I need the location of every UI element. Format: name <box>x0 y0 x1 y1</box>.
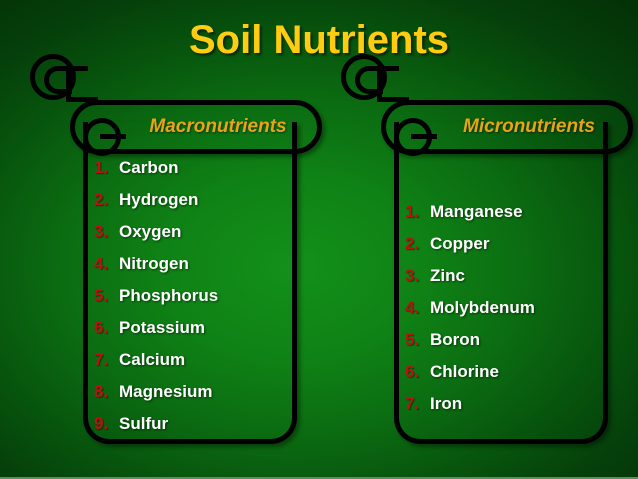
list-item-label: Zinc <box>430 266 465 286</box>
list-item-label: Magnesium <box>119 382 213 402</box>
list-item-number: 7. <box>94 350 119 370</box>
list-item-label: Molybdenum <box>430 298 535 318</box>
list-item-label: Calcium <box>119 350 185 370</box>
list-item: 4. Nitrogen <box>83 254 297 286</box>
list-item-number: 1. <box>94 158 119 178</box>
list-item-label: Hydrogen <box>119 190 198 210</box>
nutrient-list-macronutrients: 1. Carbon 2. Hydrogen 3. Oxygen 4. Nitro… <box>83 122 297 444</box>
list-item: 5. Phosphorus <box>83 286 297 318</box>
scroll-curl-bar-icon <box>100 134 126 139</box>
list-item-label: Phosphorus <box>119 286 218 306</box>
list-item-number: 5. <box>94 286 119 306</box>
list-item: 6. Chlorine <box>394 362 608 394</box>
list-item-label: Oxygen <box>119 222 181 242</box>
list-item-number: 4. <box>94 254 119 274</box>
list-item-number: 6. <box>94 318 119 338</box>
list-item: 3. Oxygen <box>83 222 297 254</box>
list-item: 5. Boron <box>394 330 608 362</box>
list-item-number: 6. <box>405 362 430 382</box>
list-item-label: Copper <box>430 234 490 254</box>
list-item: 7. Iron <box>394 394 608 426</box>
list-item-label: Potassium <box>119 318 205 338</box>
list-item-number: 3. <box>405 266 430 286</box>
list-item-number: 8. <box>94 382 119 402</box>
scroll-curl-foot-icon <box>377 97 409 102</box>
list-item: 1. Manganese <box>394 202 608 234</box>
list-item-label: Sulfur <box>119 414 168 434</box>
list-item: 7. Calcium <box>83 350 297 382</box>
scroll-header-macronutrients: Macronutrients <box>70 100 322 154</box>
list-item: 2. Copper <box>394 234 608 266</box>
scroll-curl-bar-icon <box>411 134 437 139</box>
list-item-label: Carbon <box>119 158 179 178</box>
list-item: 1. Carbon <box>83 158 297 190</box>
list-item: 6. Potassium <box>83 318 297 350</box>
slide-canvas: Soil Nutrients 1. Carbon 2. Hydrogen 3. … <box>0 0 638 479</box>
list-item-number: 7. <box>405 394 430 414</box>
list-item-number: 5. <box>405 330 430 350</box>
list-item-number: 2. <box>94 190 119 210</box>
list-item-number: 2. <box>405 234 430 254</box>
list-item-number: 4. <box>405 298 430 318</box>
list-item-number: 3. <box>94 222 119 242</box>
list-item-label: Chlorine <box>430 362 499 382</box>
scroll-curl-bottom-icon <box>30 48 104 112</box>
list-item-label: Boron <box>430 330 480 350</box>
list-item-label: Manganese <box>430 202 523 222</box>
list-item: 9. Sulfur <box>83 414 297 446</box>
list-item-number: 1. <box>405 202 430 222</box>
scroll-curl-foot-icon <box>66 97 98 102</box>
list-item: 8. Magnesium <box>83 382 297 414</box>
scroll-header-micronutrients: Micronutrients <box>381 100 633 154</box>
list-item-number: 9. <box>94 414 119 434</box>
nutrient-list-micronutrients: 1. Manganese 2. Copper 3. Zinc 4. Molybd… <box>394 122 608 444</box>
list-item: 2. Hydrogen <box>83 190 297 222</box>
list-item: 4. Molybdenum <box>394 298 608 330</box>
scroll-curl-bottom-icon <box>341 48 415 112</box>
list-item: 3. Zinc <box>394 266 608 298</box>
list-item-label: Nitrogen <box>119 254 189 274</box>
list-item-label: Iron <box>430 394 462 414</box>
